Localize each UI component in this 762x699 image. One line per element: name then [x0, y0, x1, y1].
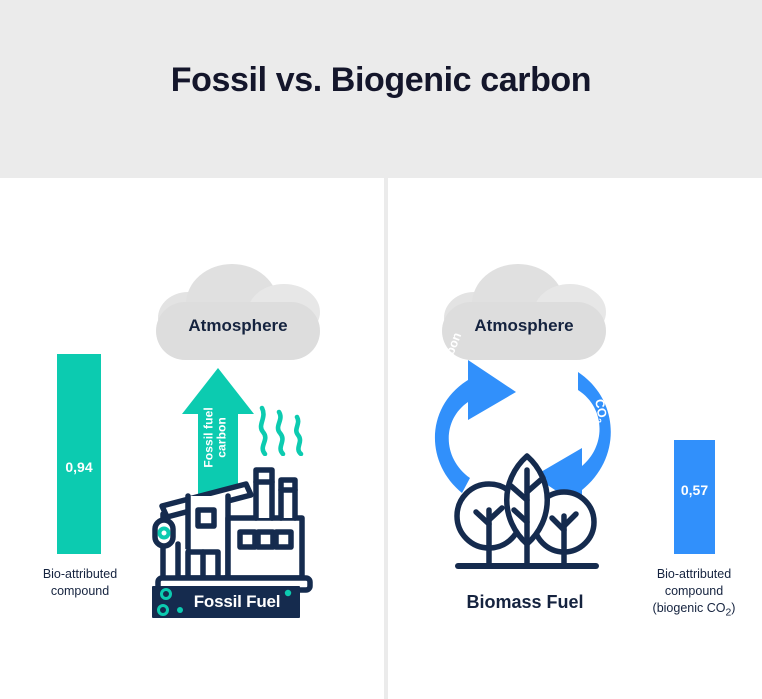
biomass-fuel-label: Biomass Fuel [415, 592, 635, 613]
bar-label-right-line3: (biogenic CO2) [653, 601, 736, 615]
bar-bio-attributed-biogenic: 0,57 [674, 440, 715, 554]
fossil-fuel-banner: Fossil Fuel [152, 586, 300, 618]
factory-icon [150, 462, 320, 602]
infographic-root: Fossil vs. Biogenic carbon Atmosphere 0,… [0, 0, 762, 699]
bar-label-left-line2: compound [51, 584, 109, 598]
bar-value-left: 0,94 [57, 459, 101, 475]
fossil-fuel-label: Fossil Fuel [152, 586, 300, 618]
bar-label-right-line2: compound [665, 584, 723, 598]
bar-group-bio-attributed-biogenic: 0,57 Bio-attributed compound (biogenic C… [612, 440, 762, 554]
bar-bio-attributed: 0,94 [57, 354, 101, 554]
bar-label-right: Bio-attributed compound (biogenic CO2) [614, 566, 762, 620]
page-title: Fossil vs. Biogenic carbon [0, 60, 762, 101]
bar-label-left: Bio-attributed compound [0, 566, 160, 600]
smoke-icon [256, 404, 316, 461]
trees-icon [448, 448, 606, 583]
bar-value-right: 0,57 [674, 482, 715, 498]
bar-group-bio-attributed: 0,94 Bio-attributed compound [0, 354, 160, 554]
bar-label-right-line1: Bio-attributed [657, 567, 731, 581]
atmosphere-cloud-right: Atmosphere [434, 262, 614, 362]
atmosphere-label-left: Atmosphere [148, 316, 328, 336]
atmosphere-label-right: Atmosphere [434, 316, 614, 336]
co2-label-text: CO [592, 398, 609, 419]
bar-label-left-line1: Bio-attributed [43, 567, 117, 581]
atmosphere-cloud-left: Atmosphere [148, 262, 328, 362]
